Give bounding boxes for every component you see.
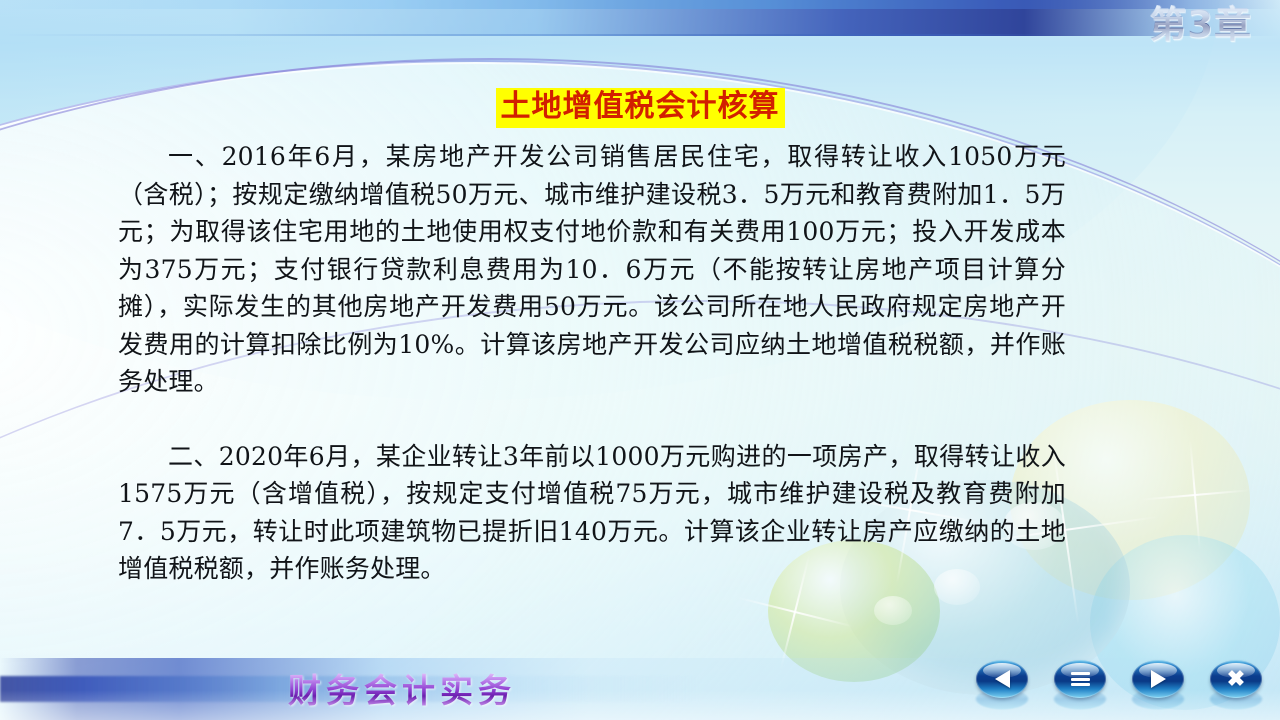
decorative-bubble-small-3 (874, 596, 912, 625)
top-decorative-band (0, 0, 1280, 36)
body-paragraph-1: 一、2016年6月，某房地产开发公司销售居民住宅，取得转让收入1050万元（含税… (118, 138, 1066, 401)
triangle-right-icon (1151, 670, 1166, 688)
slide-body: 一、2016年6月，某房地产开发公司销售居民住宅，取得转让收入1050万元（含税… (118, 138, 1066, 588)
page-title-text: 土地增值税会计核算 (496, 88, 785, 128)
next-slide-button[interactable] (1132, 660, 1184, 698)
chapter-badge: 第3章 (1149, 2, 1252, 48)
top-band-edge (0, 34, 1060, 36)
page-title: 土地增值税会计核算 (0, 88, 1280, 128)
menu-button[interactable] (1054, 660, 1106, 698)
close-icon: ✖ (1227, 670, 1245, 688)
top-band-highlight (0, 0, 1280, 9)
slide-canvas: 第3章 土地增值税会计核算 一、2016年6月，某房地产开发公司销售居民住宅，取… (0, 0, 1280, 720)
hamburger-menu-icon (1071, 670, 1090, 689)
triangle-left-icon (995, 670, 1010, 688)
body-paragraph-2: 二、2020年6月，某企业转让3年前以1000万元购进的一项房产，取得转让收入1… (118, 438, 1066, 588)
navigation-buttons: ✖ (976, 660, 1262, 698)
close-button[interactable]: ✖ (1210, 660, 1262, 698)
sparkle-star-4 (1135, 435, 1254, 554)
previous-slide-button[interactable] (976, 660, 1028, 698)
footer-brand-title: 财务会计实务 (288, 670, 516, 712)
